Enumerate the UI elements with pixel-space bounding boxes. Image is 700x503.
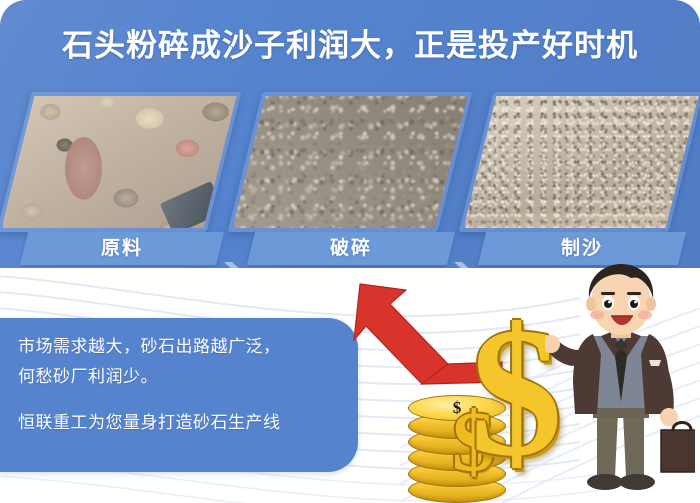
step-label-text: 原料 [24, 232, 220, 265]
process-steps: 原料 破碎 制沙 [0, 92, 700, 268]
message-tagline: 恒联重工为您量身打造砂石生产线 [18, 408, 348, 438]
message-line: 市场需求越大，砂石出路越广泛， [18, 332, 348, 362]
crushed-gravel-photo [234, 96, 467, 228]
step-photo-frame [228, 92, 473, 232]
step-label-bar: 破碎 [247, 232, 455, 265]
message-line: 何愁砂厂利润少。 [18, 362, 348, 392]
step-photo-frame [459, 92, 700, 232]
process-step-crushing[interactable]: 破碎 [245, 92, 457, 268]
step-photo-clip [464, 96, 699, 228]
step-photo-frame [0, 92, 241, 232]
manufactured-sand-photo [465, 96, 698, 228]
step-photo-clip [233, 96, 468, 228]
process-step-raw-material[interactable]: 原料 [14, 92, 226, 268]
step-label-bar: 原料 [20, 232, 224, 265]
promo-banner: 石头粉碎成沙子利润大，正是投产好时机 原料 破碎 [0, 0, 700, 503]
message-panel: 市场需求越大，砂石出路越广泛，何愁砂厂利润少。恒联重工为您量身打造砂石生产线 [0, 318, 358, 472]
page-title: 石头粉碎成沙子利润大，正是投产好时机 [0, 24, 700, 68]
step-label-bar: 制沙 [478, 232, 686, 265]
message-text: 市场需求越大，砂石出路越广泛，何愁砂厂利润少。恒联重工为您量身打造砂石生产线 [18, 332, 348, 438]
businessman-with-briefcase-icon [545, 262, 695, 503]
step-label-text: 制沙 [482, 232, 682, 265]
process-step-sand-making[interactable]: 制沙 [476, 92, 688, 268]
river-pebbles-photo [3, 96, 236, 228]
step-photo-clip [2, 96, 237, 228]
step-label-text: 破碎 [251, 232, 451, 265]
